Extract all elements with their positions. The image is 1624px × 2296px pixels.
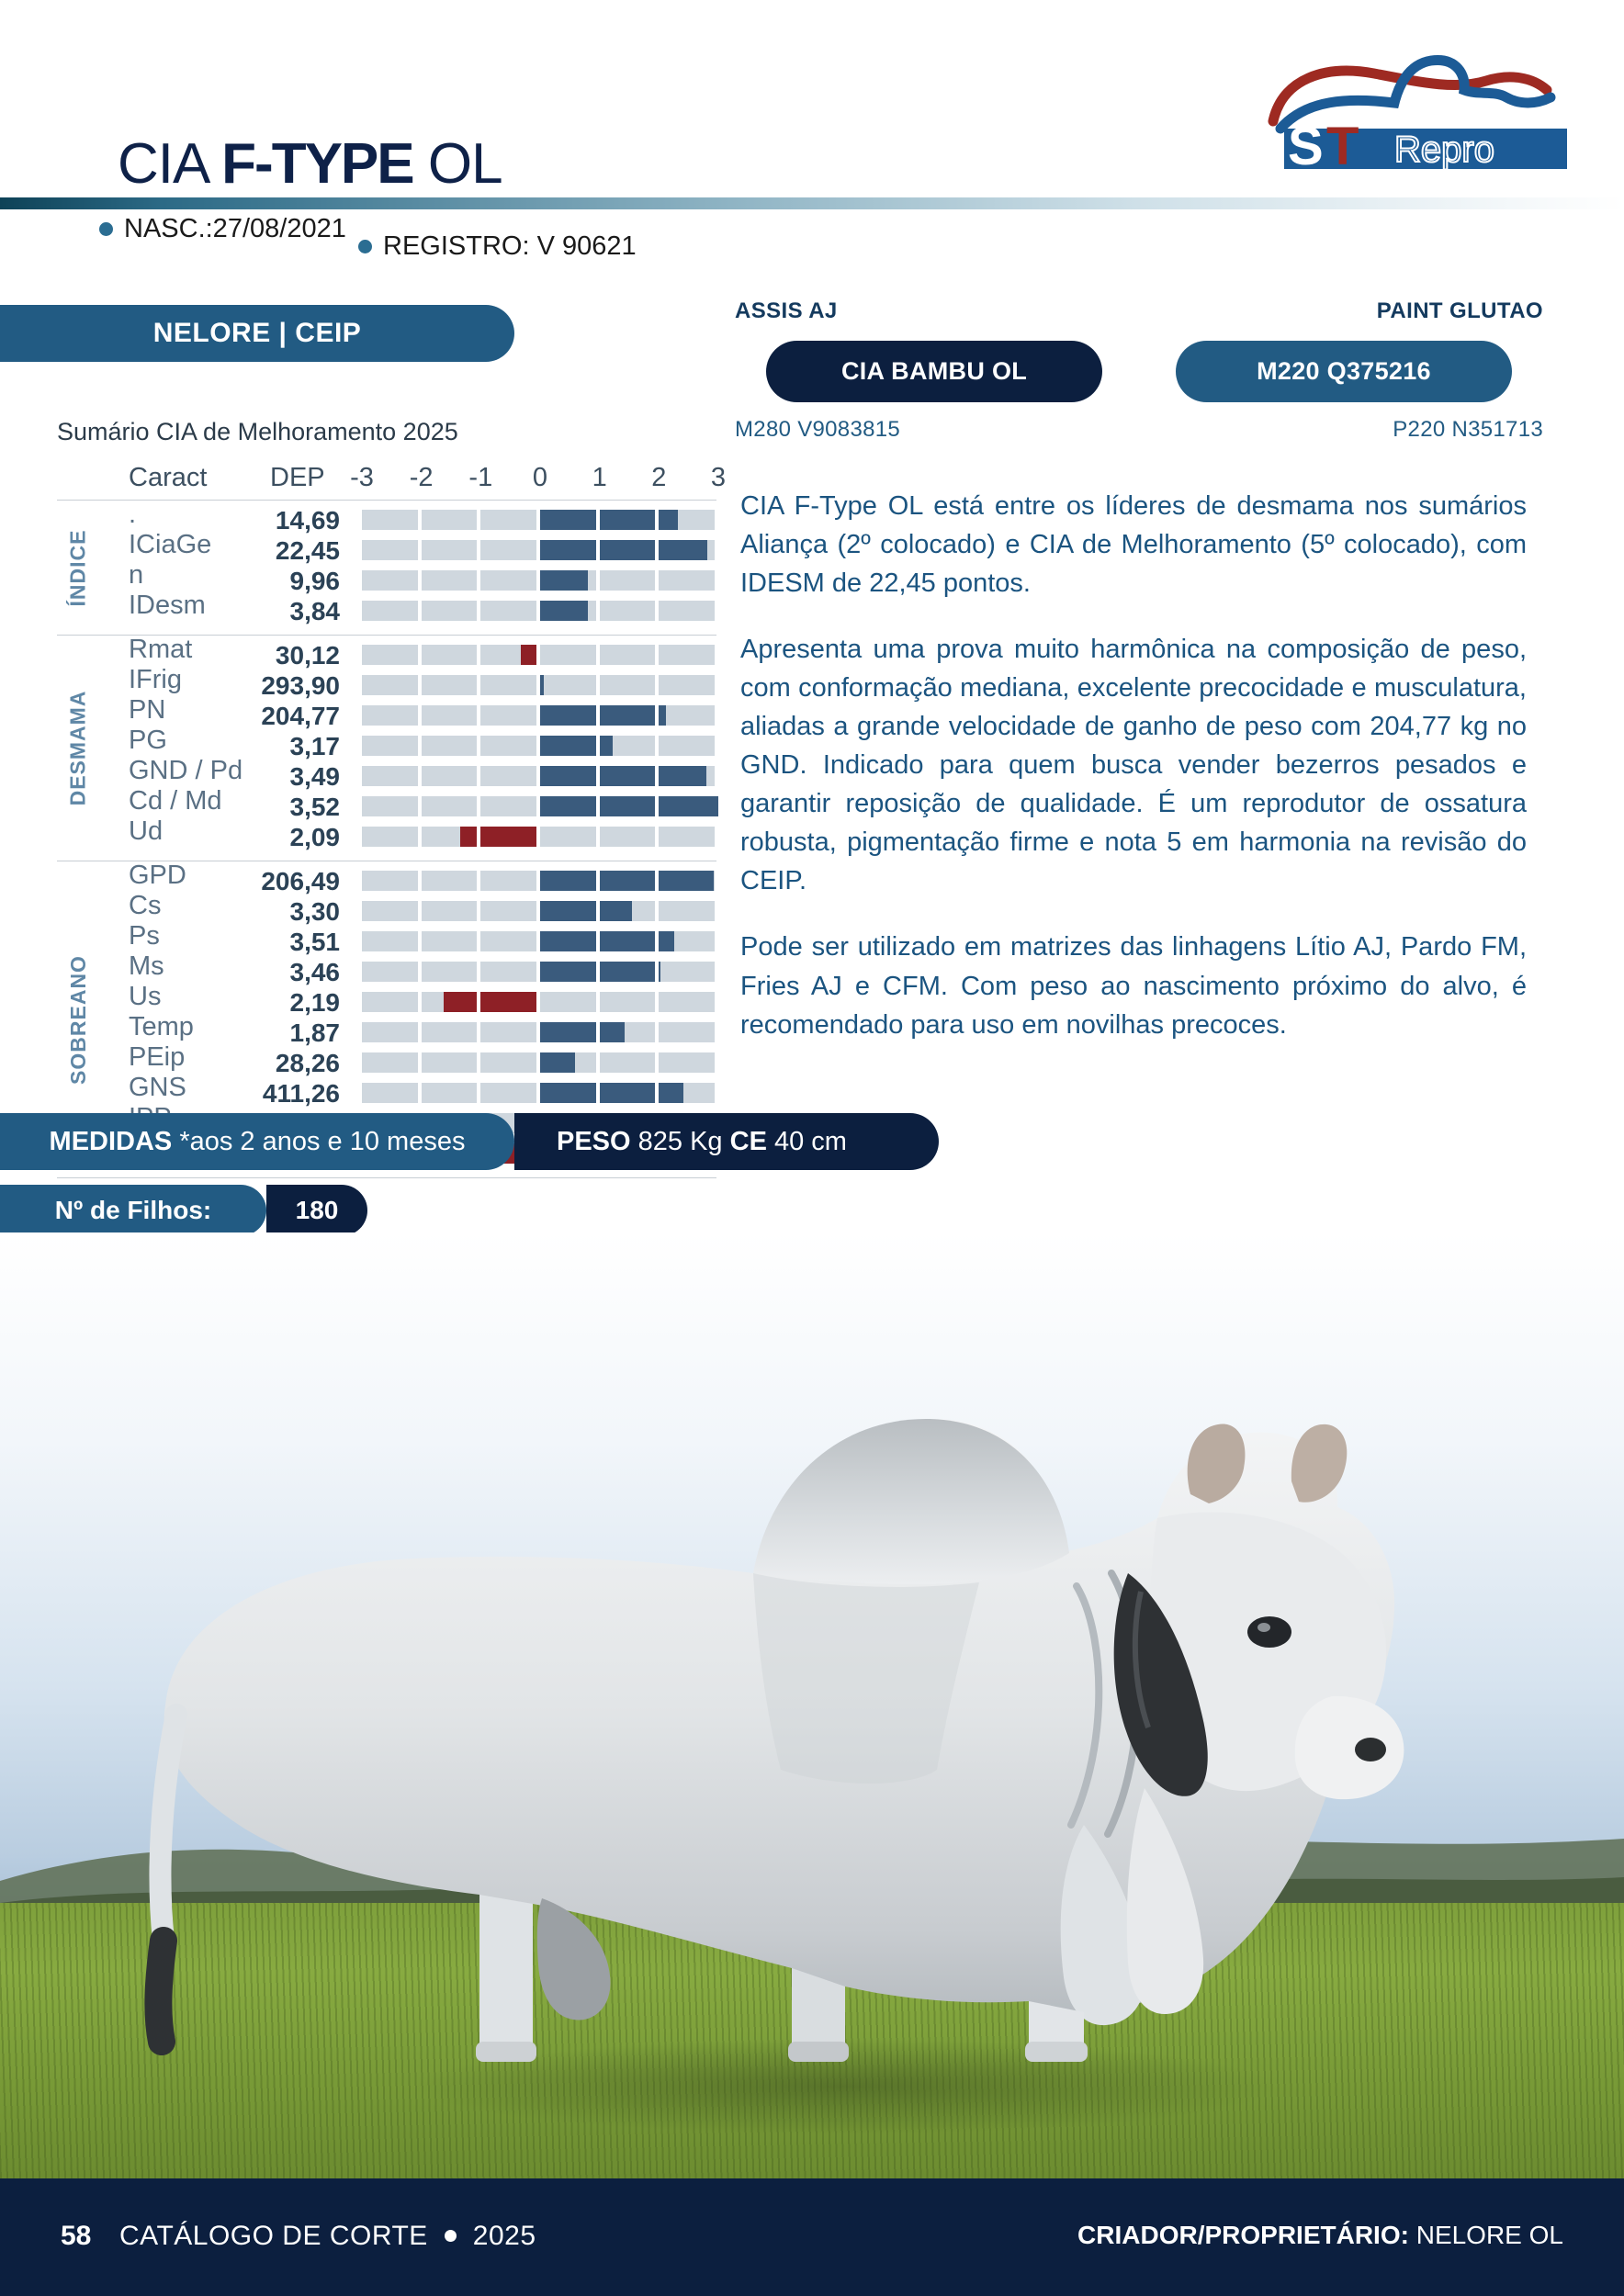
trait-dep-value: 3,46 <box>195 960 340 985</box>
ce-value: 40 cm <box>767 1127 847 1156</box>
trait-label: Ud <box>129 818 163 845</box>
bar-gap <box>536 827 540 847</box>
bar-gap <box>536 962 540 982</box>
trait-label: GPD <box>129 862 186 889</box>
bar-track-segment <box>362 871 418 891</box>
trait-bar <box>362 736 718 756</box>
bar-track-segment <box>362 962 418 982</box>
bar-gap <box>418 766 422 786</box>
trait-label: Cs <box>129 893 161 919</box>
dam-name-pill[interactable]: M220 Q375216 <box>1176 341 1512 402</box>
bar-gap <box>477 601 480 621</box>
bar-gap <box>477 766 480 786</box>
bar-gap <box>477 901 480 921</box>
bar-fill <box>444 992 540 1012</box>
trait-bar <box>362 1083 718 1103</box>
bar-track-segment <box>362 827 418 847</box>
bar-track-segment <box>659 675 715 695</box>
bar-fill <box>540 1022 625 1042</box>
bar-track-segment <box>480 796 536 816</box>
dam-grandsire: PAINT GLUTAO <box>1157 298 1543 324</box>
trait-dep-value: 1,87 <box>195 1020 340 1046</box>
axis-tick-1: 1 <box>581 463 618 493</box>
trait-label: Temp <box>129 1014 194 1041</box>
bar-track-segment <box>600 570 656 591</box>
description-paragraph-3: Pode ser utilizado em matrizes das linha… <box>740 928 1527 1043</box>
bar-track-segment <box>659 992 715 1012</box>
trait-dep-value: 3,30 <box>195 899 340 925</box>
bar-gap <box>418 901 422 921</box>
bar-gap <box>655 736 659 756</box>
trait-label: IFrig <box>129 667 182 693</box>
axis-tick-0: 0 <box>522 463 558 493</box>
description-paragraph-2: Apresenta uma prova muito harmônica na c… <box>740 630 1527 900</box>
bar-track-segment <box>422 601 478 621</box>
bar-gap <box>536 796 540 816</box>
bar-track-segment <box>362 796 418 816</box>
registration-label: REGISTRO: V 90621 <box>383 231 637 262</box>
bar-track-segment <box>659 1052 715 1073</box>
ce-label: CE <box>730 1127 767 1156</box>
trait-dep-value: 2,19 <box>195 990 340 1016</box>
bar-track-segment <box>480 736 536 756</box>
peso-label: PESO <box>557 1127 631 1156</box>
trait-label: Rmat <box>129 636 192 663</box>
bar-fill <box>540 766 706 786</box>
trait-dep-value: 293,90 <box>195 673 340 699</box>
bar-track-segment <box>480 1083 536 1103</box>
bar-track-segment <box>362 540 418 560</box>
catalog-label: CATÁLOGO DE CORTE2025 <box>119 2221 536 2252</box>
bar-gap <box>655 645 659 665</box>
bar-gap <box>536 540 540 560</box>
bar-track-segment <box>422 871 478 891</box>
dep-chart: CaractDEP-3-2-10123ÍNDICE.14,69ICiaGe22,… <box>57 459 718 1178</box>
breed-banner: NELORE | CEIP <box>0 305 514 362</box>
bar-gap <box>418 736 422 756</box>
bar-gap <box>655 901 659 921</box>
bar-track-segment <box>362 1022 418 1042</box>
bar-track-segment <box>659 901 715 921</box>
bar-track-segment <box>600 992 656 1012</box>
bar-track-segment <box>480 570 536 591</box>
section-label: ÍNDICE <box>62 501 94 635</box>
bar-fill <box>540 570 588 591</box>
bar-gap <box>536 675 540 695</box>
trait-bar <box>362 796 718 816</box>
medidas-label: MEDIDAS <box>50 1127 173 1156</box>
bar-track-segment <box>540 645 596 665</box>
bullet-icon <box>358 240 372 253</box>
bar-track-segment <box>422 645 478 665</box>
dam-registration: P220 N351713 <box>1157 417 1543 443</box>
bar-track-segment <box>600 1052 656 1073</box>
bar-track-segment <box>480 705 536 726</box>
catalog-name: CATÁLOGO DE CORTE <box>119 2221 428 2251</box>
bar-gap <box>655 1022 659 1042</box>
trait-dep-value: 14,69 <box>195 508 340 534</box>
trait-bar <box>362 675 718 695</box>
bar-track-segment <box>422 766 478 786</box>
bar-fill <box>540 871 714 891</box>
sire-name-pill[interactable]: CIA BAMBU OL <box>766 341 1102 402</box>
bar-track-segment <box>480 962 536 982</box>
bar-track-segment <box>659 645 715 665</box>
bar-gap <box>596 962 600 982</box>
st-repro-logo: S T Repro <box>1260 33 1591 171</box>
bar-track-segment <box>540 827 596 847</box>
trait-bar <box>362 570 718 591</box>
bar-gap <box>655 1083 659 1103</box>
trait-label: PG <box>129 727 167 754</box>
trait-dep-value: 28,26 <box>195 1051 340 1076</box>
svg-text:Repro: Repro <box>1394 129 1494 170</box>
bar-track-segment <box>659 570 715 591</box>
birth-date: NASC.:27/08/2021 <box>99 214 346 244</box>
bar-gap <box>596 1083 600 1103</box>
bar-gap <box>418 962 422 982</box>
trait-bar <box>362 510 718 530</box>
bar-gap <box>418 871 422 891</box>
bar-track-segment <box>600 645 656 665</box>
bar-gap <box>418 1022 422 1042</box>
bar-track-segment <box>422 540 478 560</box>
bar-gap <box>596 871 600 891</box>
bar-gap <box>536 1052 540 1073</box>
bar-gap <box>596 510 600 530</box>
trait-bar <box>362 645 718 665</box>
axis-tick--3: -3 <box>344 463 380 493</box>
bar-fill <box>540 675 544 695</box>
trait-bar <box>362 705 718 726</box>
registration: REGISTRO: V 90621 <box>358 231 637 262</box>
bar-track-segment <box>540 675 596 695</box>
bar-gap <box>477 796 480 816</box>
bar-track-segment <box>362 675 418 695</box>
summary-title: Sumário CIA de Melhoramento 2025 <box>57 418 718 446</box>
bar-track-segment <box>659 736 715 756</box>
bar-track-segment <box>422 962 478 982</box>
bar-track-segment <box>480 766 536 786</box>
bar-gap <box>477 931 480 951</box>
bar-gap <box>596 1052 600 1073</box>
page-title: CIA F-TYPE OL <box>118 136 502 193</box>
bar-fill <box>540 1052 575 1073</box>
catalog-year: 2025 <box>473 2221 536 2251</box>
bar-gap <box>477 1022 480 1042</box>
trait-bar <box>362 601 718 621</box>
dot-icon <box>445 2230 457 2242</box>
birth-date-label: NASC.:27/08/2021 <box>124 214 346 244</box>
pedigree-sire: ASSIS AJ CIA BAMBU OL M280 V9083815 <box>735 298 1121 443</box>
medidas-pill: MEDIDAS *aos 2 anos e 10 meses <box>0 1113 514 1170</box>
bar-gap <box>596 766 600 786</box>
bar-gap <box>418 540 422 560</box>
trait-label: Us <box>129 984 161 1010</box>
owner-value: NELORE OL <box>1409 2221 1563 2249</box>
bar-gap <box>477 962 480 982</box>
bar-track-segment <box>480 540 536 560</box>
bar-fill <box>540 705 666 726</box>
breed-label: NELORE | CEIP <box>153 318 362 349</box>
bull-illustration <box>110 1311 1424 2142</box>
bar-gap <box>655 675 659 695</box>
trait-bar <box>362 1052 718 1073</box>
bar-gap <box>418 705 422 726</box>
bar-track-segment <box>659 705 715 726</box>
bar-gap <box>536 570 540 591</box>
trait-bar <box>362 992 718 1012</box>
bar-gap <box>418 1083 422 1103</box>
bar-track-segment <box>480 601 536 621</box>
bar-gap <box>418 1052 422 1073</box>
bar-gap <box>418 601 422 621</box>
trait-bar <box>362 827 718 847</box>
bar-gap <box>477 736 480 756</box>
bar-track-segment <box>422 1052 478 1073</box>
bar-gap <box>418 570 422 591</box>
bar-fill <box>540 1083 683 1103</box>
bar-track-segment <box>362 992 418 1012</box>
page-footer: 58 CATÁLOGO DE CORTE2025 CRIADOR/PROPRIE… <box>0 2178 1624 2296</box>
bar-gap <box>596 901 600 921</box>
bar-gap <box>477 1083 480 1103</box>
bar-gap <box>418 931 422 951</box>
filhos-value: 180 <box>296 1196 339 1225</box>
medidas-note: *aos 2 anos e 10 meses <box>172 1127 465 1156</box>
bar-gap <box>536 645 540 665</box>
bar-track-segment <box>362 1083 418 1103</box>
title-suffix: OL <box>413 132 502 196</box>
bar-track-segment <box>362 736 418 756</box>
bar-track-segment <box>362 931 418 951</box>
trait-bar <box>362 962 718 982</box>
offspring-row: Nº de Filhos: 180 <box>0 1185 1010 1236</box>
bar-track-segment <box>362 901 418 921</box>
trait-bar <box>362 766 718 786</box>
bar-track-segment <box>480 1052 536 1073</box>
title-divider <box>0 197 1624 209</box>
bar-track-segment <box>600 827 656 847</box>
axis-tick-3: 3 <box>700 463 737 493</box>
bar-track-segment <box>422 675 478 695</box>
trait-dep-value: 30,12 <box>195 643 340 669</box>
bar-gap <box>536 992 540 1012</box>
bar-gap <box>655 871 659 891</box>
svg-text:T: T <box>1326 117 1359 171</box>
bar-gap <box>655 796 659 816</box>
bar-gap <box>477 992 480 1012</box>
bar-gap <box>536 705 540 726</box>
bar-gap <box>418 675 422 695</box>
bar-gap <box>418 992 422 1012</box>
axis-tick--2: -2 <box>403 463 440 493</box>
bar-gap <box>536 871 540 891</box>
trait-dep-value: 22,45 <box>195 538 340 564</box>
peso-ce-pill: PESO 825 Kg CE 40 cm <box>514 1113 939 1170</box>
table-header: CaractDEP-3-2-10123 <box>57 459 718 500</box>
bar-track-segment <box>600 675 656 695</box>
bar-track-segment <box>422 931 478 951</box>
peso-value: 825 Kg <box>631 1127 730 1156</box>
bar-track-segment <box>659 962 715 982</box>
bar-gap <box>477 705 480 726</box>
bar-gap <box>418 827 422 847</box>
bar-track-segment <box>362 705 418 726</box>
bar-track-segment <box>362 570 418 591</box>
filhos-label: Nº de Filhos: <box>55 1196 211 1225</box>
bar-gap <box>655 931 659 951</box>
bar-gap <box>477 570 480 591</box>
bullet-icon <box>99 222 113 236</box>
trait-dep-value: 206,49 <box>195 869 340 895</box>
axis-tick-2: 2 <box>640 463 677 493</box>
filhos-value-pill: 180 <box>266 1185 367 1236</box>
bar-track-segment <box>480 675 536 695</box>
bar-gap <box>477 827 480 847</box>
bar-gap <box>655 705 659 726</box>
bar-track-segment <box>422 736 478 756</box>
bar-gap <box>477 645 480 665</box>
col-header-caract: Caract <box>129 463 207 493</box>
bar-fill <box>460 827 540 847</box>
page-header: CIA F-TYPE OL NASC.:27/08/2021 REGISTRO:… <box>0 0 1624 285</box>
trait-label: PN <box>129 697 165 724</box>
bar-track-segment <box>422 1022 478 1042</box>
bar-fill <box>540 962 660 982</box>
bar-gap <box>596 675 600 695</box>
bar-gap <box>477 1052 480 1073</box>
bar-track-segment <box>480 510 536 530</box>
bar-gap <box>596 645 600 665</box>
page-number: 58 <box>61 2221 91 2252</box>
bar-gap <box>655 962 659 982</box>
bar-gap <box>596 540 600 560</box>
bar-gap <box>596 931 600 951</box>
bar-fill <box>540 540 707 560</box>
sire-registration: M280 V9083815 <box>735 417 1121 443</box>
bar-track-segment <box>659 601 715 621</box>
bar-gap <box>655 766 659 786</box>
owner-info: CRIADOR/PROPRIETÁRIO: NELORE OL <box>1077 2221 1563 2250</box>
bar-track-segment <box>362 601 418 621</box>
bar-gap <box>596 796 600 816</box>
trait-bar <box>362 931 718 951</box>
section-label: DESMAMA <box>62 636 94 861</box>
bar-gap <box>536 766 540 786</box>
bar-track-segment <box>480 1022 536 1042</box>
pedigree-section: ASSIS AJ CIA BAMBU OL M280 V9083815 PAIN… <box>735 298 1543 459</box>
trait-label: Ms <box>129 953 164 980</box>
trait-bar <box>362 871 718 891</box>
bar-gap <box>596 705 600 726</box>
bar-track-segment <box>480 871 536 891</box>
bar-track-segment <box>480 931 536 951</box>
trait-bar <box>362 540 718 560</box>
col-header-dep: DEP <box>270 463 325 493</box>
title-main: F-TYPE <box>221 132 412 196</box>
trait-label: Ps <box>129 923 160 950</box>
trait-dep-value: 204,77 <box>195 703 340 729</box>
bar-gap <box>655 827 659 847</box>
description-paragraph-1: CIA F-Type OL está entre os líderes de d… <box>740 487 1527 602</box>
bar-gap <box>655 1052 659 1073</box>
bar-gap <box>536 736 540 756</box>
bar-gap <box>596 601 600 621</box>
trait-dep-value: 411,26 <box>195 1081 340 1107</box>
bar-gap <box>477 871 480 891</box>
trait-bar <box>362 1022 718 1042</box>
bar-gap <box>596 570 600 591</box>
bar-track-segment <box>362 645 418 665</box>
summary-table: Sumário CIA de Melhoramento 2025 CaractD… <box>57 418 718 1178</box>
bar-gap <box>596 1022 600 1042</box>
bar-gap <box>596 736 600 756</box>
description-text: CIA F-Type OL está entre os líderes de d… <box>740 487 1527 1044</box>
measurements-section: MEDIDAS *aos 2 anos e 10 meses PESO 825 … <box>0 1113 1010 1236</box>
bar-gap <box>596 827 600 847</box>
bar-track-segment <box>480 901 536 921</box>
axis-tick--1: -1 <box>462 463 499 493</box>
trait-label: . <box>129 501 136 528</box>
filhos-label-pill: Nº de Filhos: <box>0 1185 266 1236</box>
trait-label: GNS <box>129 1075 186 1101</box>
trait-dep-value: 3,52 <box>195 794 340 820</box>
trait-bar <box>362 901 718 921</box>
bar-gap <box>536 931 540 951</box>
bar-fill <box>540 931 674 951</box>
bar-gap <box>477 675 480 695</box>
bar-fill <box>540 736 613 756</box>
bar-gap <box>655 601 659 621</box>
bar-gap <box>418 796 422 816</box>
pedigree-dam: PAINT GLUTAO M220 Q375216 P220 N351713 <box>1157 298 1543 443</box>
bar-gap <box>418 510 422 530</box>
measures-row: MEDIDAS *aos 2 anos e 10 meses PESO 825 … <box>0 1113 1010 1170</box>
trait-dep-value: 9,96 <box>195 568 340 594</box>
bar-gap <box>536 510 540 530</box>
bar-fill <box>540 901 632 921</box>
trait-label: n <box>129 562 143 589</box>
bar-gap <box>418 645 422 665</box>
bar-track-segment <box>362 766 418 786</box>
trait-dep-value: 3,51 <box>195 929 340 955</box>
bar-gap <box>536 1083 540 1103</box>
bar-track-segment <box>540 992 596 1012</box>
bar-gap <box>477 510 480 530</box>
svg-text:S: S <box>1288 117 1324 171</box>
bar-gap <box>596 992 600 1012</box>
bar-fill <box>540 601 588 621</box>
bar-gap <box>536 901 540 921</box>
trait-label: PEip <box>129 1044 185 1071</box>
trait-dep-value: 3,84 <box>195 599 340 625</box>
bar-track-segment <box>422 901 478 921</box>
section-índice: ÍNDICE.14,69ICiaGe22,45n9,96IDesm3,84 <box>57 501 718 635</box>
bar-gap <box>655 540 659 560</box>
bar-gap <box>536 601 540 621</box>
trait-dep-value: 2,09 <box>195 825 340 850</box>
bar-track-segment <box>659 1022 715 1042</box>
bar-gap <box>536 1022 540 1042</box>
bar-track-segment <box>422 1083 478 1103</box>
bar-gap <box>655 992 659 1012</box>
bar-track-segment <box>422 570 478 591</box>
bar-track-segment <box>600 601 656 621</box>
bar-fill <box>540 796 718 816</box>
bar-track-segment <box>362 1052 418 1073</box>
bar-gap <box>655 510 659 530</box>
